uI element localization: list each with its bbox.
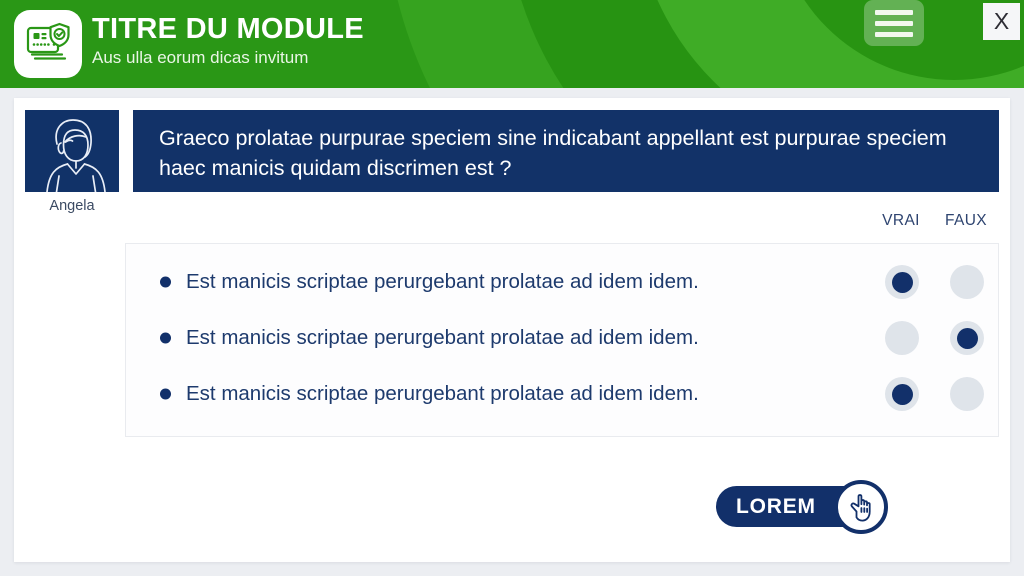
answer-text: Est manicis scriptae perurgebant prolata… bbox=[186, 380, 699, 408]
hamburger-menu-icon-bar-1 bbox=[875, 10, 913, 15]
module-logo bbox=[14, 10, 82, 78]
answers-list: Est manicis scriptae perurgebant prolata… bbox=[125, 243, 999, 437]
page-header: TITRE DU MODULE Aus ulla eorum dicas inv… bbox=[0, 0, 1024, 88]
hamburger-menu-icon-bar-3 bbox=[875, 32, 913, 37]
bullet-icon bbox=[160, 277, 171, 288]
hand-pointer-glyph bbox=[841, 487, 881, 527]
radio-faux-1[interactable] bbox=[950, 265, 984, 299]
answer-row: Est manicis scriptae perurgebant prolata… bbox=[126, 254, 998, 310]
radio-vrai-1[interactable] bbox=[885, 265, 919, 299]
id-card-shield-icon bbox=[23, 19, 73, 69]
page-subtitle: Aus ulla eorum dicas invitum bbox=[92, 47, 364, 69]
hamburger-menu-icon-bar-2 bbox=[875, 21, 913, 26]
answer-row: Est manicis scriptae perurgebant prolata… bbox=[126, 366, 998, 422]
hamburger-menu-button[interactable] bbox=[864, 0, 924, 46]
page-title: TITRE DU MODULE bbox=[92, 12, 364, 46]
content-card: Angela Graeco prolatae purpurae speciem … bbox=[14, 98, 1010, 562]
answer-row: Est manicis scriptae perurgebant prolata… bbox=[126, 310, 998, 366]
radio-faux-3[interactable] bbox=[950, 377, 984, 411]
radio-vrai-3[interactable] bbox=[885, 377, 919, 411]
submit-button-label: LOREM bbox=[736, 495, 816, 519]
column-header-vrai: VRAI bbox=[868, 212, 934, 230]
close-icon: X bbox=[994, 10, 1009, 33]
radio-dot bbox=[892, 384, 913, 405]
header-text-block: TITRE DU MODULE Aus ulla eorum dicas inv… bbox=[92, 12, 364, 69]
column-header-faux: FAUX bbox=[933, 212, 999, 230]
hand-pointer-icon bbox=[834, 480, 888, 534]
bullet-icon bbox=[160, 389, 171, 400]
female-avatar-icon bbox=[32, 114, 112, 192]
question-banner: Graeco prolatae purpurae speciem sine in… bbox=[133, 110, 999, 192]
speaker-block: Angela bbox=[25, 110, 119, 215]
avatar bbox=[25, 110, 119, 192]
answer-text: Est manicis scriptae perurgebant prolata… bbox=[186, 268, 699, 296]
radio-dot bbox=[892, 272, 913, 293]
submit-button[interactable]: LOREM bbox=[716, 486, 878, 527]
answer-text: Est manicis scriptae perurgebant prolata… bbox=[186, 324, 699, 352]
radio-faux-2[interactable] bbox=[950, 321, 984, 355]
module-screen: TITRE DU MODULE Aus ulla eorum dicas inv… bbox=[0, 0, 1024, 576]
radio-dot bbox=[957, 328, 978, 349]
answer-column-headers: VRAI FAUX bbox=[14, 212, 1010, 238]
question-text: Graeco prolatae purpurae speciem sine in… bbox=[159, 123, 977, 183]
bullet-icon bbox=[160, 333, 171, 344]
radio-vrai-2[interactable] bbox=[885, 321, 919, 355]
close-button[interactable]: X bbox=[983, 3, 1020, 40]
